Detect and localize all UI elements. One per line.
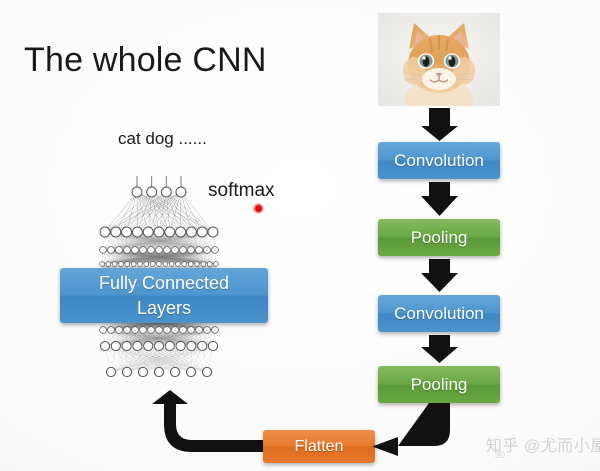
block-pooling-2[interactable]: Pooling — [378, 366, 500, 403]
fc-line-2: Layers — [137, 296, 191, 321]
arrow-conv2-to-pool2 — [421, 335, 458, 363]
block-label: Convolution — [394, 151, 484, 171]
slide-canvas: The whole CNN cat dog ...... softmax Ful… — [0, 0, 600, 471]
block-convolution-1[interactable]: Convolution — [378, 142, 500, 179]
block-pooling-1[interactable]: Pooling — [378, 219, 500, 256]
page-title: The whole CNN — [24, 41, 267, 80]
block-convolution-2[interactable]: Convolution — [378, 295, 500, 332]
kitten-photo — [378, 13, 500, 106]
arrow-pool2-to-flatten — [372, 403, 450, 456]
arrow-pool1-to-conv2 — [421, 259, 458, 292]
fc-line-1: Fully Connected — [99, 271, 229, 296]
block-flatten[interactable]: Flatten — [263, 430, 375, 463]
block-label: Convolution — [394, 304, 484, 324]
page-number: 30 — [495, 450, 505, 460]
fully-connected-layers-box[interactable]: Fully Connected Layers — [60, 268, 268, 323]
block-label: Flatten — [295, 438, 344, 456]
arrow-photo-to-conv1 — [421, 108, 458, 141]
arrow-flatten-to-fully-connected — [152, 390, 263, 452]
block-label: Pooling — [411, 375, 468, 395]
output-class-label: cat dog ...... — [118, 129, 207, 149]
arrow-conv1-to-pool1 — [421, 182, 458, 216]
laser-dot-icon — [253, 203, 264, 214]
block-label: Pooling — [411, 228, 468, 248]
